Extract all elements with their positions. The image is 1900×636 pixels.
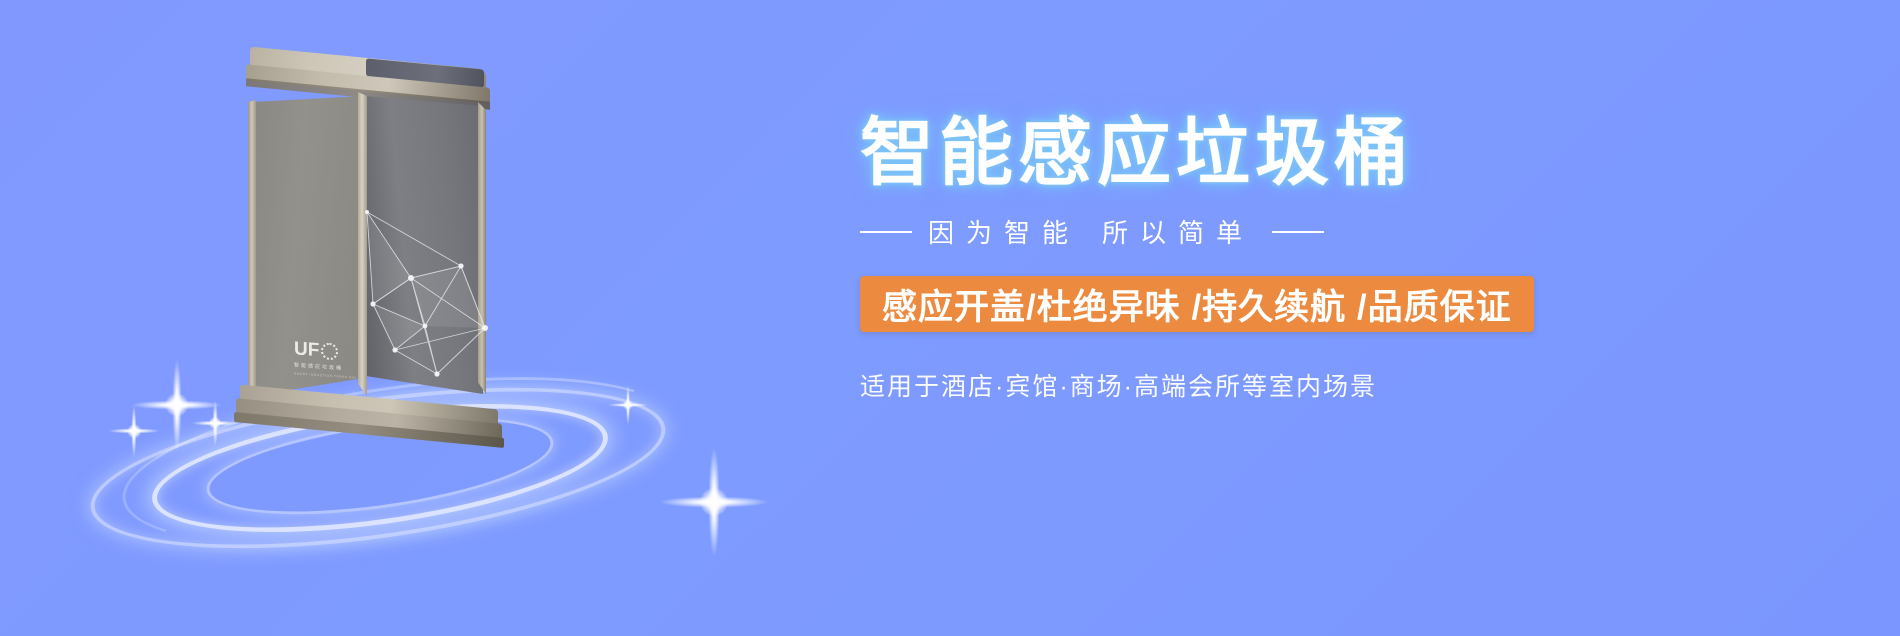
sparkle-icon bbox=[660, 448, 768, 556]
subhead-rule-left bbox=[860, 231, 912, 233]
ufo-wordmark: UF bbox=[294, 339, 368, 363]
sparkle-icon bbox=[608, 385, 648, 425]
sparkle-icon bbox=[132, 360, 222, 450]
subhead-part-2: 所以简单 bbox=[1102, 218, 1254, 248]
bin-edge-left bbox=[248, 96, 256, 398]
ufo-ring-icon bbox=[321, 342, 338, 360]
ufo-letters: UF bbox=[294, 339, 319, 360]
sparkle-icon bbox=[192, 400, 238, 446]
sparkle-icon bbox=[108, 405, 160, 457]
bin-edge-right bbox=[478, 102, 486, 394]
product-stage: UF 智能感应垃圾桶 SMART INDUCTION TRASH BIN bbox=[0, 0, 860, 636]
subhead-rule-right bbox=[1272, 231, 1324, 233]
usage-scene-line: 适用于酒店·宾馆·商场·高端会所等室内场景 bbox=[860, 367, 1760, 403]
bin-panel-right bbox=[365, 92, 483, 394]
trash-bin-product-image: UF 智能感应垃圾桶 SMART INDUCTION TRASH BIN bbox=[238, 58, 500, 418]
subheadline: 因为智能所以简单 bbox=[860, 218, 1740, 249]
subhead-part-1: 因为智能 bbox=[928, 218, 1080, 248]
copy-block: 智能感应垃圾桶 因为智能所以简单 感应开盖/杜绝异味 /持久续航 /品质保证 适… bbox=[860, 0, 1900, 636]
headline: 智能感应垃圾桶 bbox=[860, 116, 1740, 190]
feature-badge: 感应开盖/杜绝异味 /持久续航 /品质保证 bbox=[860, 276, 1534, 332]
promo-banner: UF 智能感应垃圾桶 SMART INDUCTION TRASH BIN 智能感… bbox=[0, 0, 1900, 636]
